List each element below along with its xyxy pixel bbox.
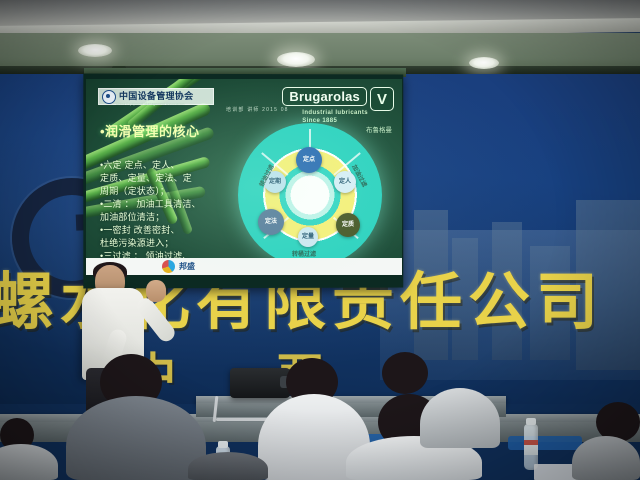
- footer-brand-name: 邦盛: [179, 261, 195, 272]
- downlight-icon: [469, 57, 499, 69]
- diagram-node-label: 定质: [342, 222, 354, 228]
- diagram-node: 定法: [258, 209, 284, 235]
- downlight-icon: [78, 44, 112, 57]
- radial-diagram: 定点 定人 定质 定量 定法 定期 领油过滤 加油过滤 转桶过滤: [238, 123, 382, 267]
- bullet-line: 周期（定状态）；: [100, 185, 220, 198]
- diagram-node-label: 定期: [269, 179, 281, 185]
- photo-scene: 螺水化有限责任公司 中 西 中国设备管理协会 China Equipment M…: [0, 0, 640, 480]
- bottle-label-stripe: [524, 440, 538, 445]
- diagram-node-label: 定点: [303, 157, 315, 163]
- association-subtitle: China Equipment Management Association: [116, 102, 185, 106]
- brand-cn-note: 布鲁格曼: [366, 124, 392, 134]
- diagram-ring-label: 转桶过滤: [292, 249, 316, 258]
- bottle-cap: [526, 418, 536, 425]
- diagram-node: 定质: [336, 213, 360, 237]
- chair-back: [508, 436, 582, 450]
- diagram-node-label: 定法: [265, 219, 277, 225]
- presentation-slide: 中国设备管理协会 China Equipment Management Asso…: [86, 79, 402, 275]
- brand-logo-group: Brugarolas V: [282, 87, 394, 111]
- slide-footer: 邦盛: [86, 258, 402, 275]
- association-seal-icon: [102, 90, 116, 104]
- diagram-node-label: 定人: [339, 179, 351, 185]
- footer-logo-icon: [162, 260, 175, 273]
- brand-tagline-line1: Industrial lubricants: [302, 110, 368, 118]
- diagram-node: 定量: [298, 227, 318, 247]
- bullet-line: 杜绝污染源进入；: [100, 237, 220, 250]
- bullet-line: •二清 ： 加油工具清洁、: [100, 198, 220, 211]
- attendee-body: [188, 452, 268, 480]
- slide-title: •润滑管理的核心: [100, 121, 200, 140]
- association-name: 中国设备管理协会: [119, 92, 193, 101]
- brand-mark-glyph: V: [377, 92, 387, 107]
- attendee-body: [572, 436, 640, 480]
- downlight-icon: [277, 52, 315, 67]
- diagram-node: 定人: [334, 171, 356, 193]
- bullet-line: •六定 定点、定人、: [100, 159, 220, 172]
- brand-name: Brugarolas: [289, 90, 360, 103]
- bottle-cap: [218, 441, 228, 448]
- diagram-node-label: 定量: [302, 234, 314, 240]
- attendee-head: [382, 352, 428, 394]
- diagram-node: 定点: [296, 147, 322, 173]
- bullet-line: •一密封 改善密封、: [100, 224, 220, 237]
- brand-name-box: Brugarolas: [282, 87, 367, 106]
- slide-header-date: 培训部 讲师 2015 08: [226, 106, 289, 113]
- speaker-hand: [146, 280, 166, 302]
- bullet-line: 定质、定量、定法、定: [100, 172, 220, 185]
- attendee-body: [0, 444, 58, 480]
- brand-mark-icon: V: [370, 87, 394, 111]
- bullet-line: 加油部位清洁；: [100, 211, 220, 224]
